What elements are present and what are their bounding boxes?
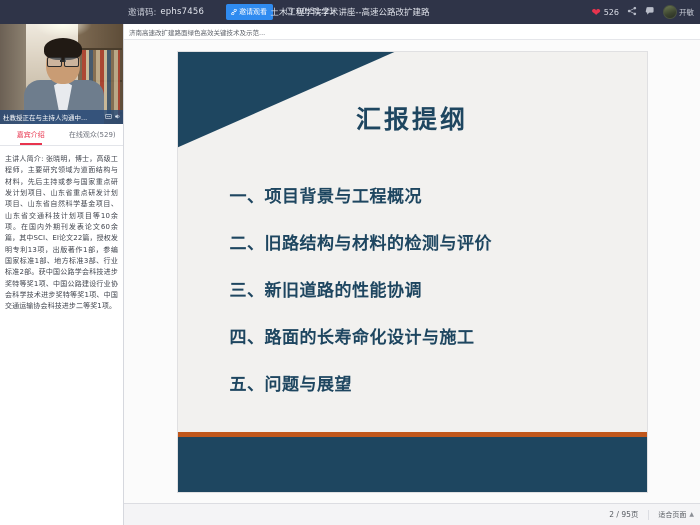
outline-item: 三、新旧道路的性能协调 [230, 276, 627, 301]
user-name: 开敏 [679, 7, 694, 18]
user-account[interactable]: 开敏 [663, 5, 694, 19]
top-bar: 土木工程学院学术讲座--高速公路改扩建路 邀请码: ephs7456 邀请观看 … [0, 0, 700, 24]
document-viewer: 济南高速改扩建路面绿色高效关键技术及示范... 汇报提纲 一、项目背景与工程概况… [124, 24, 700, 525]
ceiling-light [34, 24, 92, 38]
fit-mode-select[interactable]: 适合页面 ▲ [648, 510, 694, 520]
speaker-video[interactable]: 杜教授正在与主持人沟通中... [0, 24, 124, 124]
slide-outline-list: 一、项目背景与工程概况 二、旧路结构与材料的检测与评价 三、新旧道路的性能协调 … [230, 182, 627, 395]
document-header: 济南高速改扩建路面绿色高效关键技术及示范... [124, 24, 700, 40]
volume-icon[interactable] [114, 113, 121, 122]
share-icon[interactable] [627, 6, 637, 19]
tab-online-audience-label: 在线观众(529) [69, 130, 116, 140]
session-timer: 00:31:21 [286, 7, 334, 17]
link-icon [231, 9, 237, 15]
page-indicator: 2 / 95页 [609, 509, 638, 520]
invite-code-group: 邀请码: ephs7456 [128, 6, 204, 18]
outline-item: 二、旧路结构与材料的检测与评价 [230, 229, 627, 254]
outline-item: 四、路面的长寿命化设计与施工 [230, 323, 627, 348]
document-title: 济南高速改扩建路面绿色高效关键技术及示范... [129, 27, 265, 37]
invite-watch-button[interactable]: 邀请观看 [226, 4, 273, 20]
outline-item: 五、问题与展望 [230, 370, 627, 395]
invite-code-value: ephs7456 [160, 7, 204, 17]
chevron-up-icon: ▲ [689, 511, 694, 518]
slide-stage[interactable]: 汇报提纲 一、项目背景与工程概况 二、旧路结构与材料的检测与评价 三、新旧道路的… [124, 40, 700, 503]
sidebar-tabs: 嘉宾介绍 在线观众(529) [0, 124, 123, 146]
fit-mode-label: 适合页面 [658, 510, 686, 520]
video-caption-text: 杜教授正在与主持人沟通中... [3, 112, 103, 122]
bookshelf-left [0, 24, 26, 124]
outline-item: 一、项目背景与工程概况 [230, 182, 627, 207]
invite-code-label: 邀请码: [128, 6, 156, 18]
slide: 汇报提纲 一、项目背景与工程概况 二、旧路结构与材料的检测与评价 三、新旧道路的… [178, 52, 647, 492]
viewer-bottom-bar: 2 / 95页 适合页面 ▲ [124, 503, 700, 525]
tab-guest-intro[interactable]: 嘉宾介绍 [0, 124, 62, 145]
video-caption-bar: 杜教授正在与主持人沟通中... [0, 110, 124, 124]
speaker-glasses [47, 57, 79, 65]
slide-title: 汇报提纲 [178, 100, 647, 136]
top-bar-actions: ❤ 526 开敏 [592, 5, 695, 19]
user-avatar[interactable] [663, 5, 677, 19]
timer-value: 00:31:21 [296, 7, 334, 17]
speaker-bio: 主讲人简介: 张晓明，博士，高级工程师，主要研究领域为道面结构与材料，先后主持或… [0, 146, 123, 313]
heart-icon[interactable]: ❤ [592, 7, 601, 18]
like-count: 526 [604, 8, 619, 17]
clock-icon [286, 7, 293, 17]
speaker-sidebar: 杜教授正在与主持人沟通中... 嘉宾介绍 在线观众(529) 主讲人简介: 张晓… [0, 24, 124, 525]
like-group[interactable]: ❤ 526 [592, 7, 620, 18]
slide-footer-bar [178, 437, 647, 492]
comment-icon[interactable] [645, 6, 655, 19]
subtitle-icon[interactable] [105, 113, 112, 122]
tab-online-audience[interactable]: 在线观众(529) [62, 124, 124, 145]
invite-watch-label: 邀请观看 [239, 7, 267, 17]
tab-guest-intro-label: 嘉宾介绍 [17, 130, 45, 140]
